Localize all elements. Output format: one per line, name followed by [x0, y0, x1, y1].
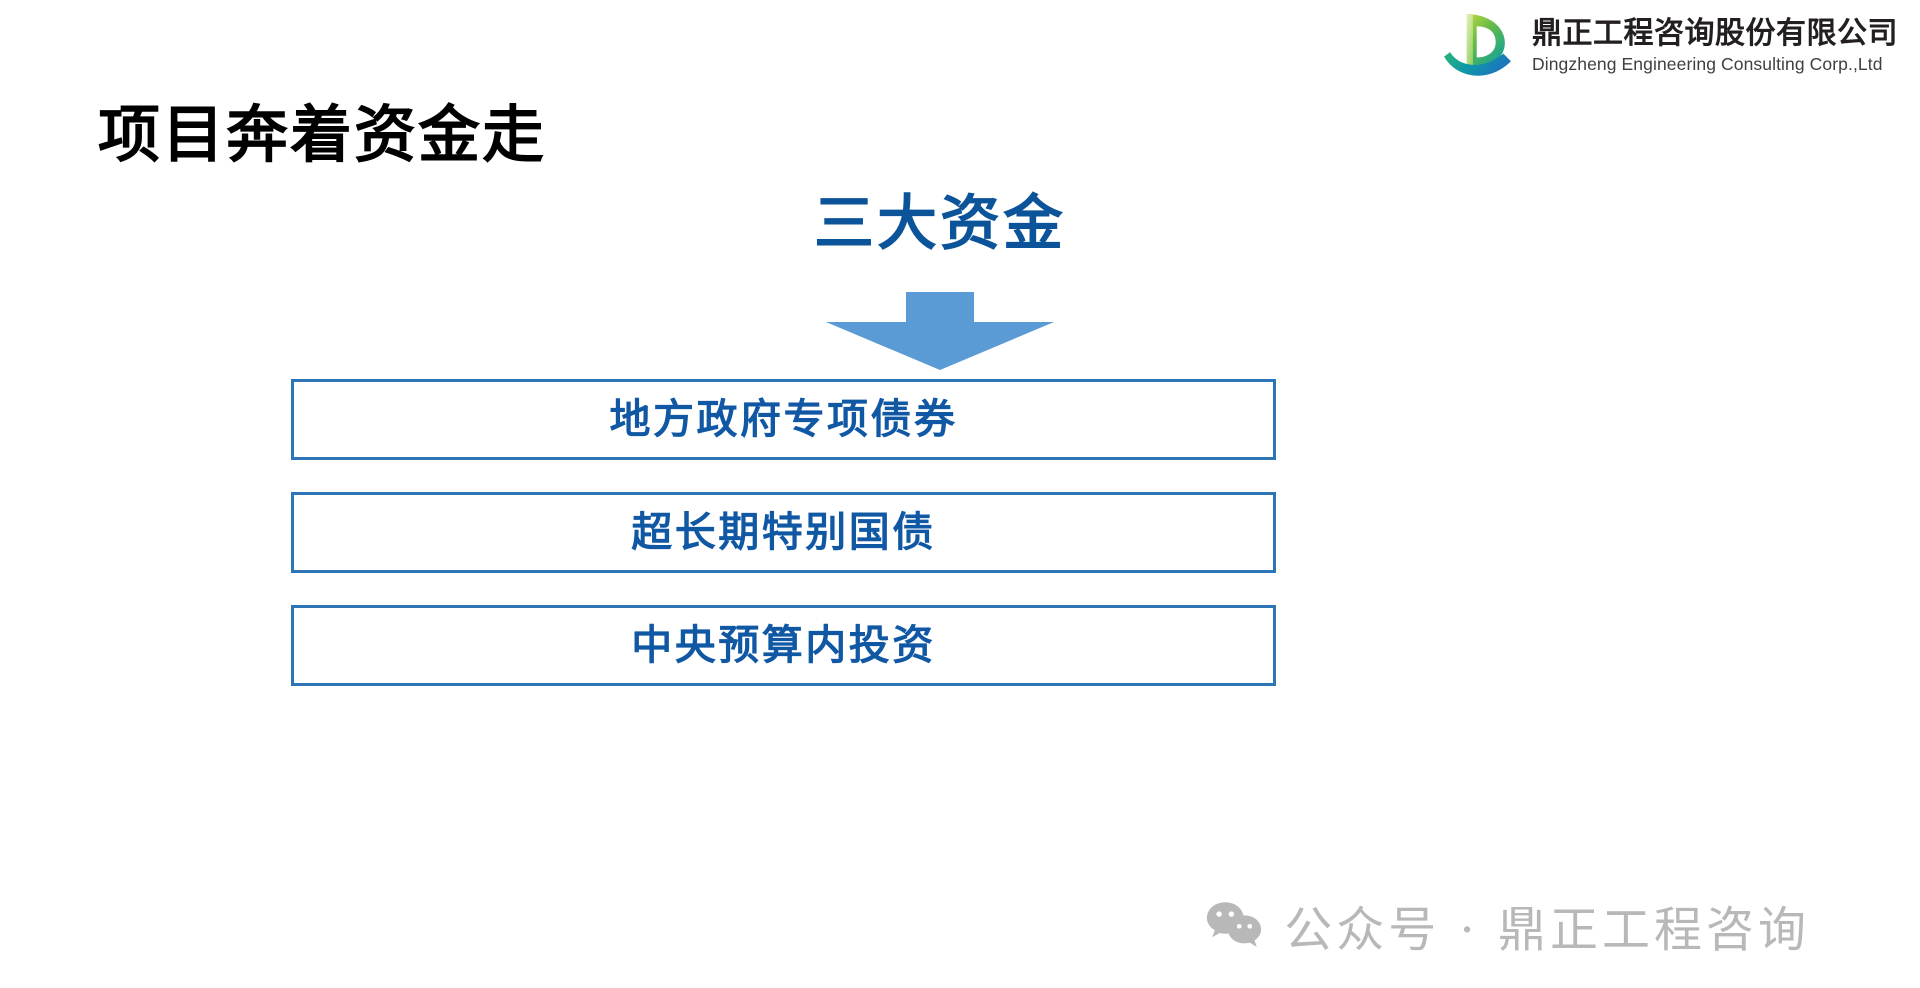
page-title: 项目奔着资金走 [98, 99, 546, 170]
section-heading-label: 三大资金 [814, 189, 1066, 259]
down-arrow-icon [826, 292, 1054, 370]
section-heading: 三大资金 [0, 188, 1920, 260]
wechat-icon [1206, 900, 1262, 950]
fund-box[interactable]: 地方政府专项债券 [291, 379, 1276, 460]
down-arrow-container [0, 292, 1920, 370]
logo-company-name-cn: 鼎正工程咨询股份有限公司 [1532, 19, 1898, 49]
footer-watermark-text: 公众号 · 鼎正工程咨询 [1284, 890, 1810, 960]
fund-box[interactable]: 中央预算内投资 [291, 605, 1276, 686]
company-logo: 鼎正工程咨询股份有限公司 Dingzheng Engineering Consu… [1440, 8, 1898, 84]
footer-watermark: 公众号 · 鼎正工程咨询 [0, 890, 1920, 960]
fund-box-list: 地方政府专项债券 超长期特别国债 中央预算内投资 [291, 379, 1276, 686]
fund-box-label: 地方政府专项债券 [610, 399, 958, 440]
fund-box-label: 中央预算内投资 [631, 625, 936, 666]
logo-text-block: 鼎正工程咨询股份有限公司 Dingzheng Engineering Consu… [1532, 19, 1898, 74]
logo-company-name-en: Dingzheng Engineering Consulting Corp.,L… [1532, 56, 1898, 74]
fund-box[interactable]: 超长期特别国债 [291, 492, 1276, 573]
dingzheng-leaf-logo-icon [1440, 8, 1518, 84]
slide-canvas: 鼎正工程咨询股份有限公司 Dingzheng Engineering Consu… [0, 0, 1920, 988]
fund-box-label: 超长期特别国债 [631, 512, 936, 553]
